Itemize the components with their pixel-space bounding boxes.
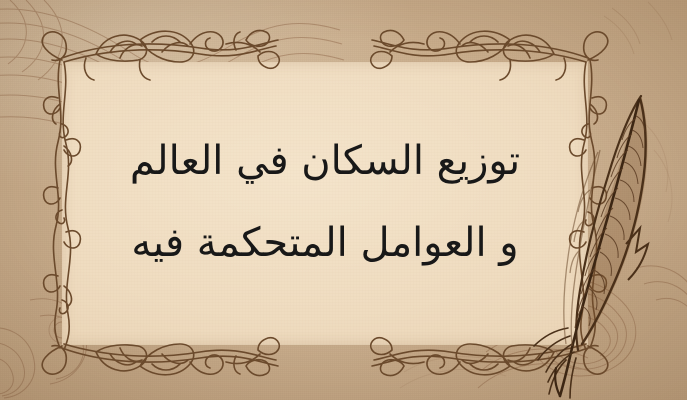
title-line-1: توزيع السكان في العالم (130, 138, 520, 184)
slide-canvas: توزيع السكان في العالم و العوامل المتحكم… (0, 0, 687, 400)
title-line-2: و العوامل المتحكمة فيه (131, 220, 518, 266)
title-text-block: توزيع السكان في العالم و العوامل المتحكم… (62, 62, 588, 345)
